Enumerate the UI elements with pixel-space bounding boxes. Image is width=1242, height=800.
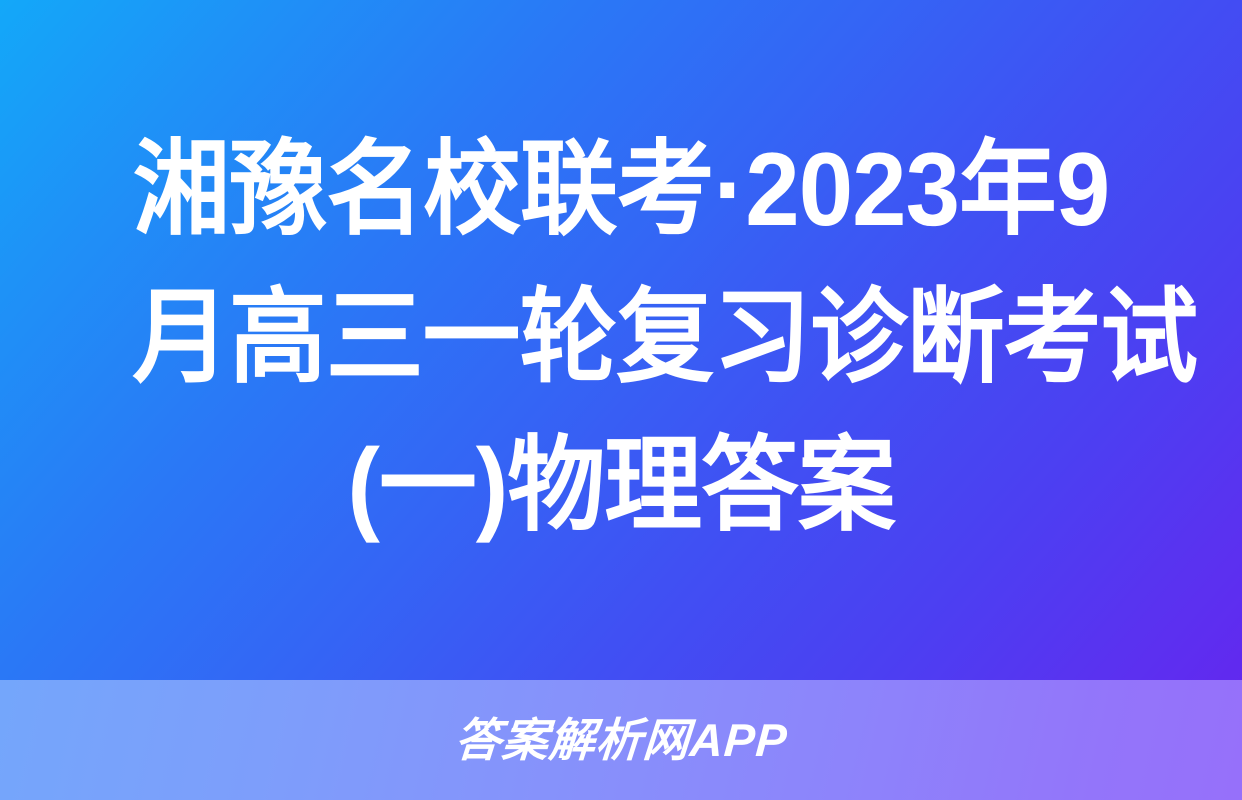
page-title: 湘豫名校联考·2023年9 月高三一轮复习诊断考试 (一)物理答案 [101,116,1141,560]
title-line-3: (一)物理答案 [132,412,1110,560]
hero-banner: 湘豫名校联考·2023年9 月高三一轮复习诊断考试 (一)物理答案 [0,0,1242,680]
title-line-2: 月高三一轮复习诊断考试 [132,264,1110,412]
brand-label: 答案解析网APP [453,712,790,768]
poster-root: 湘豫名校联考·2023年9 月高三一轮复习诊断考试 (一)物理答案 答案解析网A… [0,0,1242,800]
title-line-1: 湘豫名校联考·2023年9 [132,116,1110,264]
footer-band: 答案解析网APP [0,680,1242,800]
